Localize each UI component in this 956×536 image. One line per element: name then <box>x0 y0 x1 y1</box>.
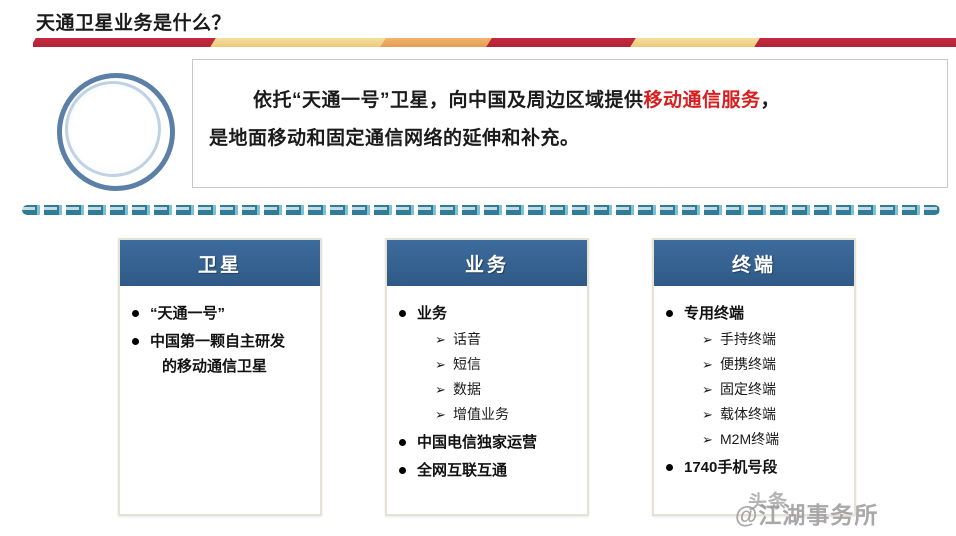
card-terminal-header: 终端 <box>654 240 854 287</box>
sub-list: ➢ 手持终端 ➢ 便携终端 ➢ 固定终端 ➢ 载 <box>684 327 846 452</box>
sub-list-item: ➢ 手持终端 <box>684 327 846 352</box>
list-item: 业务 ➢ 话音 ➢ 短信 ➢ 数据 <box>397 301 579 427</box>
card-terminal: 终端 专用终端 ➢ 手持终端 ➢ 便携终端 <box>652 238 856 516</box>
list-item-label-cont: 的移动通信卫星 <box>150 354 312 379</box>
list-item: “天通一号” <box>130 301 312 326</box>
bullet-dot-icon <box>132 310 139 317</box>
sub-list-item-label: 话音 <box>453 331 481 347</box>
list-item-label: 业务 <box>417 305 447 322</box>
card-satellite-body: “天通一号” 中国第一颗自主研发 的移动通信卫星 <box>120 287 320 390</box>
list-item: 1740手机号段 <box>664 455 846 480</box>
sub-list-item-label: 便携终端 <box>720 356 776 372</box>
sub-list-item: ➢ 载体终端 <box>684 402 846 427</box>
intro-line-1-tail: ， <box>761 90 781 111</box>
sub-list: ➢ 话音 ➢ 短信 ➢ 数据 ➢ 增值业务 <box>417 327 579 427</box>
list-item-label: “天通一号” <box>150 305 225 322</box>
bullet-dot-icon <box>666 310 673 317</box>
sub-list-item: ➢ 便携终端 <box>684 352 846 377</box>
bullet-dot-icon <box>399 310 406 317</box>
card-satellite: 卫星 “天通一号” 中国第一颗自主研发 的移动通信卫星 <box>118 238 322 516</box>
sub-list-item: ➢ 增值业务 <box>417 402 579 427</box>
card-service-body: 业务 ➢ 话音 ➢ 短信 ➢ 数据 <box>387 287 587 494</box>
sub-list-item: ➢ 数据 <box>417 377 579 402</box>
arrow-bullet-icon: ➢ <box>435 377 446 402</box>
sub-list-item-label: 手持终端 <box>720 331 776 347</box>
intro-line-1: 依托“天通一号”卫星，向中国及周边区域提供移动通信服务， <box>209 82 929 120</box>
arrow-bullet-icon: ➢ <box>435 352 446 377</box>
sub-list-item-label: 短信 <box>453 356 481 372</box>
sub-list-item: ➢ 固定终端 <box>684 377 846 402</box>
intro-textbox: 依托“天通一号”卫星，向中国及周边区域提供移动通信服务， 是地面移动和固定通信网… <box>192 59 948 188</box>
card-terminal-body: 专用终端 ➢ 手持终端 ➢ 便携终端 ➢ 固定终端 <box>654 287 854 491</box>
list-item: 专用终端 ➢ 手持终端 ➢ 便携终端 ➢ 固定终端 <box>664 301 846 452</box>
list-item-label: 中国第一颗自主研发 <box>150 333 285 350</box>
sub-list-item: ➢ M2M终端 <box>684 427 846 452</box>
arrow-bullet-icon: ➢ <box>435 402 446 427</box>
list-item-label: 中国电信独家运营 <box>417 434 537 451</box>
sub-list-item-label: 数据 <box>453 381 481 397</box>
card-service-header: 业务 <box>387 240 587 287</box>
bullet-dot-icon <box>666 464 673 471</box>
arrow-bullet-icon: ➢ <box>702 327 713 352</box>
arrow-bullet-icon: ➢ <box>702 377 713 402</box>
intro-line-1-lead: 依托“天通一号”卫星，向中国及周边区域提供 <box>253 90 644 111</box>
arrow-bullet-icon: ➢ <box>702 402 713 427</box>
card-satellite-title: 卫星 <box>198 250 242 277</box>
bullet-list: 业务 ➢ 话音 ➢ 短信 ➢ 数据 <box>397 301 579 483</box>
sub-list-item-label: M2M终端 <box>720 431 779 447</box>
arrow-bullet-icon: ➢ <box>435 327 446 352</box>
chain-gloss <box>22 207 940 210</box>
sub-list-item-label: 载体终端 <box>720 406 776 422</box>
sub-list-item: ➢ 短信 <box>417 352 579 377</box>
list-item: 全网互联互通 <box>397 458 579 483</box>
chain-divider <box>22 203 940 217</box>
card-service-title: 业务 <box>465 250 509 277</box>
ring-core-circle <box>71 87 157 173</box>
sub-list-item-label: 固定终端 <box>720 381 776 397</box>
bullet-dot-icon <box>132 338 139 345</box>
bullet-dot-icon <box>399 439 406 446</box>
sub-list-item-label: 增值业务 <box>453 406 509 422</box>
intro-highlight: 移动通信服务 <box>644 90 761 111</box>
sub-list-item: ➢ 话音 <box>417 327 579 352</box>
arrow-bullet-icon: ➢ <box>702 427 713 452</box>
card-terminal-title: 终端 <box>732 250 776 277</box>
bullet-dot-icon <box>399 467 406 474</box>
slide-canvas: 天通卫星业务是什么？ 依托“天通一号”卫星，向中国及周边区域提供移动通信服务， … <box>0 0 956 536</box>
bullet-list: 专用终端 ➢ 手持终端 ➢ 便携终端 ➢ 固定终端 <box>664 301 846 480</box>
arrow-bullet-icon: ➢ <box>702 352 713 377</box>
list-item-label: 1740手机号段 <box>684 459 777 476</box>
card-satellite-header: 卫星 <box>120 240 320 287</box>
list-item-label: 专用终端 <box>684 305 744 322</box>
intro-line-2: 是地面移动和固定通信网络的延伸和补充。 <box>209 120 929 158</box>
list-item: 中国电信独家运营 <box>397 430 579 455</box>
page-title: 天通卫星业务是什么？ <box>36 8 231 35</box>
title-decorative-rule <box>33 38 956 47</box>
ring-decoration-icon <box>57 73 175 191</box>
list-item: 中国第一颗自主研发 的移动通信卫星 <box>130 329 312 379</box>
bullet-list: “天通一号” 中国第一颗自主研发 的移动通信卫星 <box>130 301 312 379</box>
list-item-label: 全网互联互通 <box>417 462 507 479</box>
card-service: 业务 业务 ➢ 话音 ➢ 短信 <box>385 238 589 516</box>
